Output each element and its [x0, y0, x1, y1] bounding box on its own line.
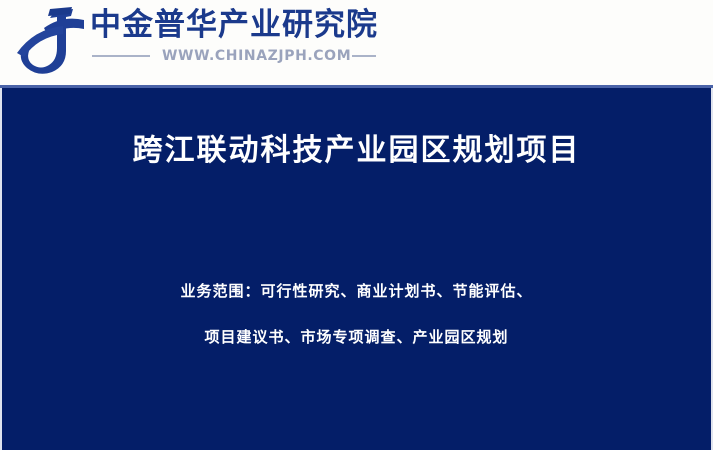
website-url: WWW.CHINAZJPH.COM — [162, 48, 351, 64]
business-scope-block: 业务范围：可行性研究、商业计划书、节能评估、 项目建议书、市场专项调查、产业园区… — [2, 284, 711, 345]
brand-header-inner: 中金普华产业研究院 WWW.CHINAZJPH.COM — [14, 4, 378, 78]
brand-text-block: 中金普华产业研究院 WWW.CHINAZJPH.COM — [90, 4, 378, 64]
business-scope-line: 业务范围：可行性研究、商业计划书、节能评估、 — [2, 284, 711, 299]
website-row: WWW.CHINAZJPH.COM — [90, 48, 378, 64]
company-swoosh-logo-icon — [14, 4, 86, 78]
cover-slide: 中金普华产业研究院 WWW.CHINAZJPH.COM 跨江联动科技产业园区规划… — [0, 0, 713, 450]
company-name: 中金普华产业研究院 — [90, 8, 378, 43]
business-scope-line: 项目建议书、市场专项调查、产业园区规划 — [2, 330, 711, 345]
brand-header: 中金普华产业研究院 WWW.CHINAZJPH.COM — [0, 0, 713, 86]
slide-body: 跨江联动科技产业园区规划项目 业务范围：可行性研究、商业计划书、节能评估、 项目… — [0, 88, 713, 450]
page-title: 跨江联动科技产业园区规划项目 — [2, 133, 711, 169]
website-rule-right — [352, 55, 376, 57]
website-rule-left — [92, 55, 150, 57]
